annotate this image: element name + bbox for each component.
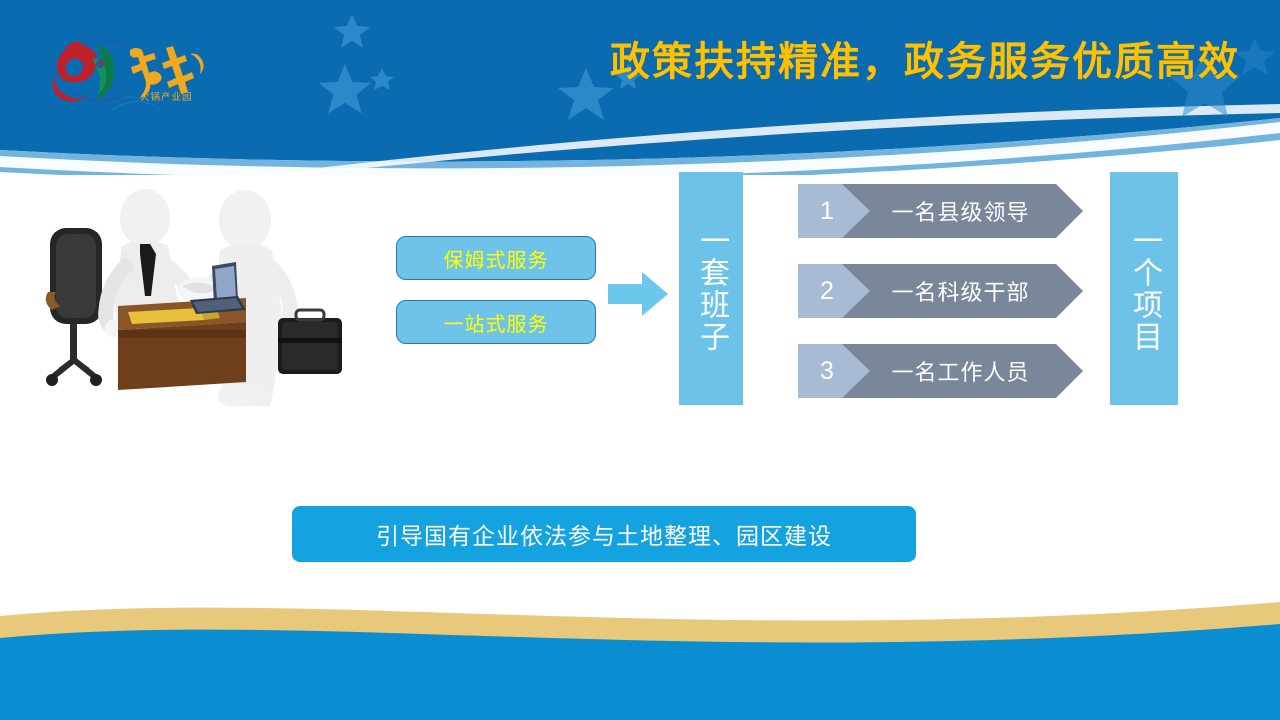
role-number: 1	[812, 184, 842, 238]
office-chair-icon	[46, 228, 102, 386]
right-arrow-icon	[608, 270, 670, 318]
role-label: 一名科级干部	[868, 264, 1053, 318]
role-number: 3	[812, 344, 842, 398]
role-number: 2	[812, 264, 842, 318]
footer-wave-graphic	[0, 580, 1280, 720]
logo-wordmark	[130, 46, 204, 98]
vertical-label-project: 一个项目	[1110, 172, 1178, 405]
role-row-1[interactable]: 1 一名县级领导	[798, 184, 1083, 238]
role-row-3[interactable]: 3 一名工作人员	[798, 344, 1083, 398]
vertical-label-team-text: 一套班子	[693, 225, 729, 353]
service-pill-onestop[interactable]: 一站式服务	[396, 300, 596, 344]
desk	[118, 298, 246, 390]
briefcase-icon	[278, 310, 342, 374]
vertical-label-team: 一套班子	[679, 172, 743, 405]
logo-green-ornament	[92, 44, 114, 100]
page-title: 政策扶持精准，政务服务优质高效	[610, 36, 1240, 88]
header-banner: 火锅产业园 政策扶持精准，政务服务优质高效	[0, 0, 1280, 175]
slide-canvas: 火锅产业园 政策扶持精准，政务服务优质高效	[0, 0, 1280, 720]
vertical-label-project-text: 一个项目	[1126, 225, 1162, 353]
bottom-banner[interactable]: 引导国有企业依法参与土地整理、园区建设	[292, 506, 916, 562]
service-pill-nanny[interactable]: 保姆式服务	[396, 236, 596, 280]
footer-waves	[0, 580, 1280, 720]
logo-subtitle: 火锅产业园	[140, 91, 193, 103]
handshake-desk-illustration	[40, 180, 370, 410]
role-label: 一名县级领导	[868, 184, 1053, 238]
role-row-2[interactable]: 2 一名科级干部	[798, 264, 1083, 318]
logo-mark: 火锅产业园	[44, 28, 214, 108]
role-label: 一名工作人员	[868, 344, 1053, 398]
site-logo[interactable]: 火锅产业园	[44, 28, 214, 108]
